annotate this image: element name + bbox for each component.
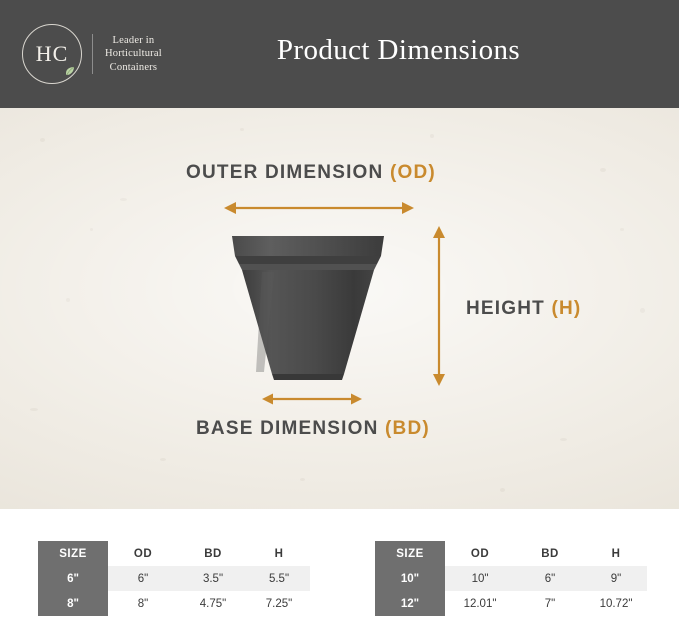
header-h: H [585,541,647,566]
cell-od: 6" [108,566,178,591]
cell-bd: 6" [515,566,585,591]
diagram-canvas: OUTER DIMENSION (OD) [0,108,679,509]
outer-dimension-arrow [224,198,414,218]
header-h: H [248,541,310,566]
base-dimension-arrow [262,390,362,408]
table-row: 10" 10" 6" 9" [375,566,647,591]
cell-od: 8" [108,591,178,616]
table-row: 8" 8" 4.75" 7.25" [38,591,310,616]
base-dimension-abbr: (BD) [385,418,430,439]
cell-h: 7.25" [248,591,310,616]
cell-bd: 7" [515,591,585,616]
header-od: OD [445,541,515,566]
planter-illustration [228,226,388,391]
height-text: HEIGHT [466,298,545,319]
header-bd: BD [178,541,248,566]
outer-dimension-abbr: (OD) [390,162,436,183]
cell-h: 9" [585,566,647,591]
page-title: Product Dimensions [0,34,679,67]
cell-od: 12.01" [445,591,515,616]
cell-h: 10.72" [585,591,647,616]
dimension-table-left: SIZE OD BD H 6" 6" 3.5" 5.5" 8" 8" 4.75" [38,541,310,616]
page-header: HC Leader in Horticultural Containers Pr… [0,0,679,108]
base-dimension-label: BASE DIMENSION (BD) [196,418,430,440]
table-row: 6" 6" 3.5" 5.5" [38,566,310,591]
base-dimension-text: BASE DIMENSION [196,418,379,439]
header-size: SIZE [38,541,108,566]
height-arrow [429,226,449,386]
outer-dimension-text: OUTER DIMENSION [186,162,383,183]
dimension-table-right: SIZE OD BD H 10" 10" 6" 9" 12" 12.01" 7" [375,541,647,616]
header-size: SIZE [375,541,445,566]
product-dimensions-page: HC Leader in Horticultural Containers Pr… [0,0,679,636]
header-od: OD [108,541,178,566]
table-header-row: SIZE OD BD H [38,541,310,566]
height-abbr: (H) [551,298,581,319]
outer-dimension-label: OUTER DIMENSION (OD) [186,162,436,184]
cell-size: 12" [375,591,445,616]
cell-size: 8" [38,591,108,616]
height-label: HEIGHT (H) [466,298,581,320]
table-row: 12" 12.01" 7" 10.72" [375,591,647,616]
cell-size: 10" [375,566,445,591]
header-bd: BD [515,541,585,566]
dimension-tables: SIZE OD BD H 6" 6" 3.5" 5.5" 8" 8" 4.75" [0,509,679,636]
cell-bd: 4.75" [178,591,248,616]
table-header-row: SIZE OD BD H [375,541,647,566]
cell-h: 5.5" [248,566,310,591]
cell-bd: 3.5" [178,566,248,591]
cell-size: 6" [38,566,108,591]
cell-od: 10" [445,566,515,591]
